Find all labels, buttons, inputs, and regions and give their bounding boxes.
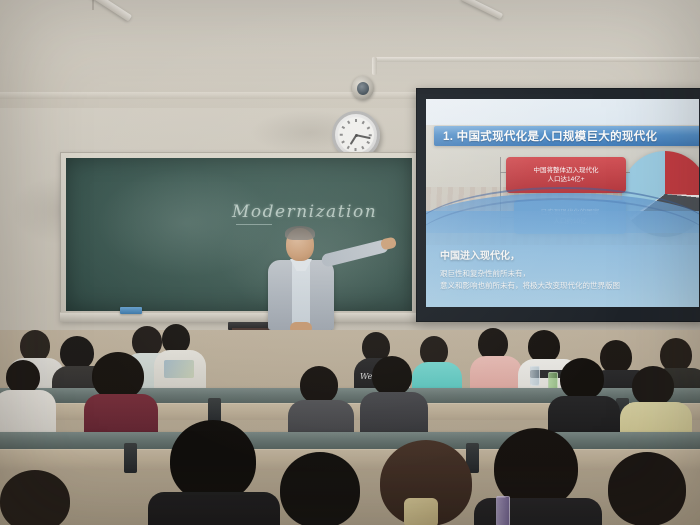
clock-tick — [340, 134, 343, 136]
chalk-writing: Modernization — [232, 202, 377, 222]
slide-body-line2: 意义和影响也前所未有，将极大改变现代化的世界版图 — [440, 280, 685, 293]
clock-tick — [347, 146, 350, 149]
slide-body-heading: 中国进入现代化， — [440, 247, 685, 262]
water-bottle[interactable] — [496, 496, 510, 525]
slide-title-text: 1. 中国式现代化是人口规模巨大的现代化 — [443, 128, 657, 144]
projection-screen: 1. 中国式现代化是人口规模巨大的现代化 中国将整体迈入现代化 人口达14亿+ … — [426, 99, 699, 307]
bench-row — [0, 432, 700, 449]
red-callout-line1: 中国将整体迈入现代化 — [510, 166, 622, 175]
student-head — [632, 366, 674, 406]
red-callout-line2: 人口达14亿+ — [510, 175, 622, 184]
classroom-photo: Modernization 1. 中国式现代化是人口规模巨大的现代化 中国将整体… — [0, 0, 700, 525]
student-head — [560, 358, 604, 400]
clock-tick — [367, 126, 370, 129]
ceiling-speaker — [352, 76, 374, 100]
student-head — [92, 352, 144, 400]
board-eraser[interactable] — [120, 307, 142, 314]
slide-body-line1: 艰巨性和复杂性前所未有， — [440, 268, 685, 281]
clock-tick — [342, 141, 345, 144]
student-head — [170, 420, 256, 502]
ceiling-conduit — [372, 57, 377, 75]
student-head — [280, 452, 360, 525]
projection-screen-frame: 1. 中国式现代化是人口规模巨大的现代化 中国将整体迈入现代化 人口达14亿+ … — [416, 88, 700, 322]
blackboard-frame: Modernization — [60, 152, 418, 322]
student-head — [6, 360, 40, 394]
student-head — [372, 356, 412, 396]
bench-support — [124, 443, 137, 473]
clock-tick — [342, 126, 345, 129]
student-head — [60, 336, 94, 370]
clock-tick — [355, 119, 357, 122]
slide-title: 1. 中国式现代化是人口规模巨大的现代化 — [434, 126, 699, 146]
clock-face — [338, 117, 374, 153]
shirt-print — [164, 360, 194, 378]
water-bottle[interactable] — [530, 366, 540, 386]
hair-clip — [404, 498, 438, 525]
clock-tick — [369, 134, 372, 136]
student-head — [660, 338, 692, 372]
clock-tick — [355, 148, 357, 151]
chalk-tray — [60, 312, 416, 322]
student-head — [608, 452, 686, 525]
blackboard: Modernization — [66, 158, 412, 311]
chalk-underline — [236, 224, 272, 225]
student-head — [0, 470, 70, 525]
student-body — [474, 498, 602, 525]
clock-tick — [362, 146, 365, 149]
lamp-rod — [92, 0, 94, 10]
lecturer-shirt — [292, 262, 310, 328]
lecturer-hair — [285, 226, 315, 240]
slide-body: 中国进入现代化， 艰巨性和复杂性前所未有， 意义和影响也前所未有，将极大改变现代… — [440, 247, 685, 294]
ceiling-conduit — [372, 57, 700, 62]
clock-tick — [367, 141, 370, 144]
clock-center-pin — [355, 134, 358, 137]
student-head — [600, 340, 632, 374]
clock-tick — [347, 121, 350, 124]
student-head — [300, 366, 338, 404]
student-body — [148, 492, 280, 525]
clock-tick — [362, 121, 365, 124]
